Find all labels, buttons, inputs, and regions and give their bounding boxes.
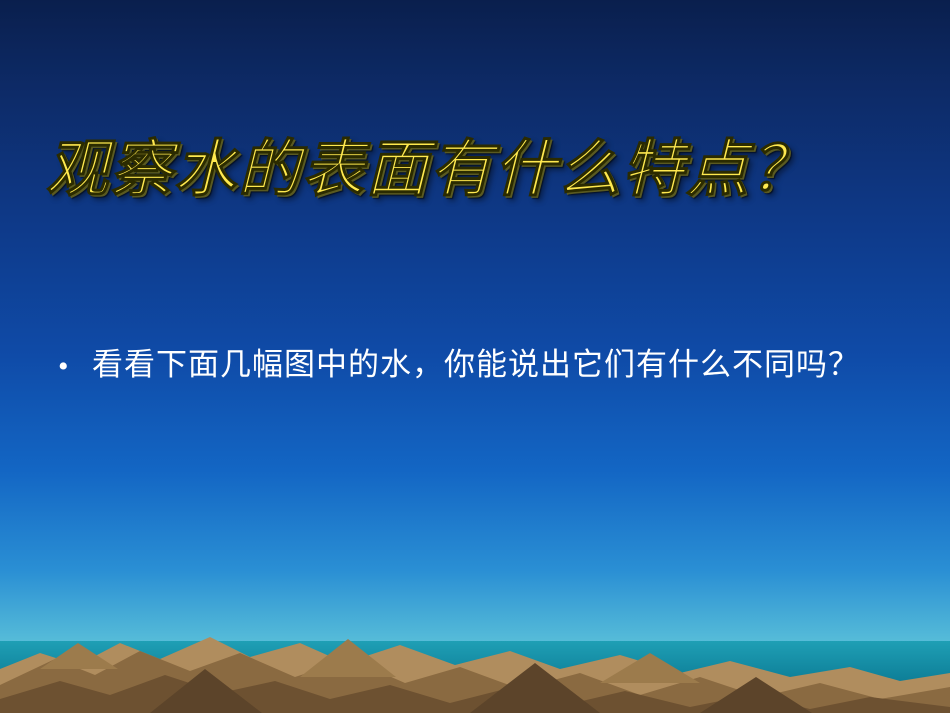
bullet-marker: • [58, 345, 92, 388]
slide-body: • 看看下面几幅图中的水，你能说出它们有什么不同吗？ [58, 345, 904, 388]
slide-title: 观察水的表面有什么特点？ [46, 136, 906, 203]
mountain-silhouette-graphic [0, 573, 950, 713]
bullet-text: 看看下面几幅图中的水，你能说出它们有什么不同吗？ [92, 345, 860, 387]
slide-canvas: 观察水的表面有什么特点？ • 看看下面几幅图中的水，你能说出它们有什么不同吗？ [0, 0, 950, 713]
